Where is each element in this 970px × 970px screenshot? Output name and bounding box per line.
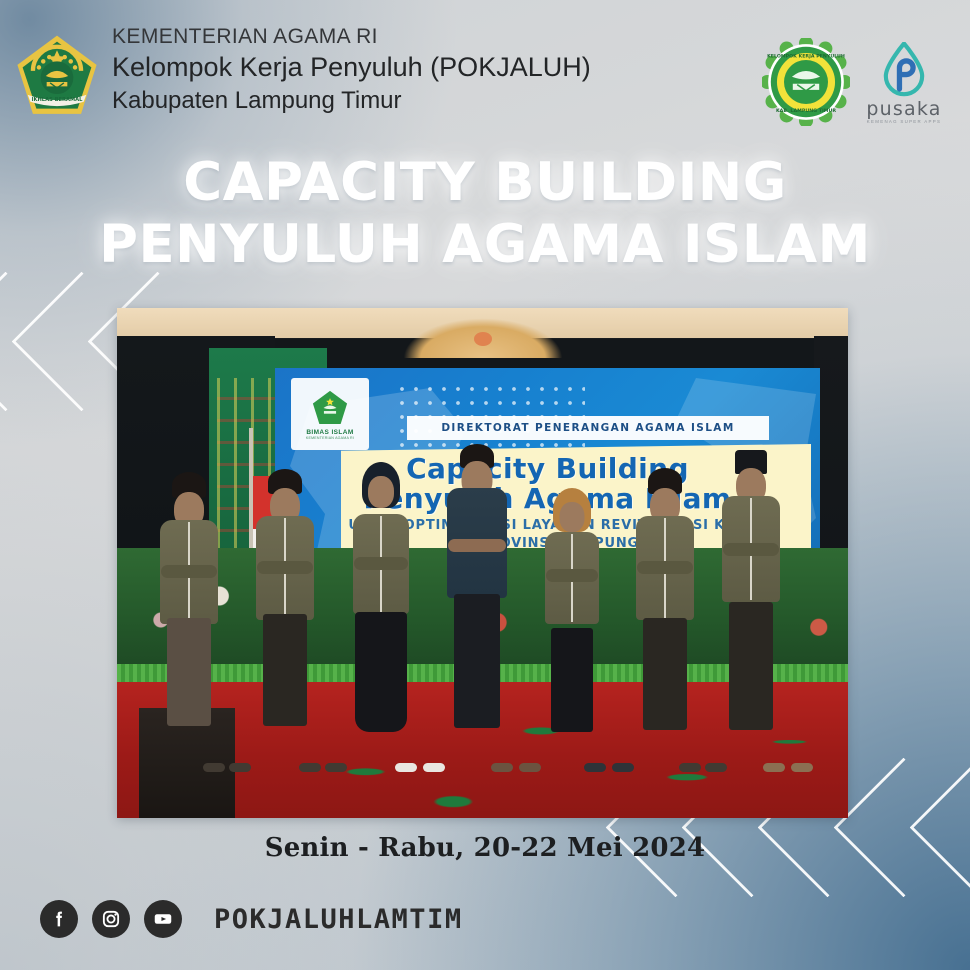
social-handle: POKJALUHLAMTIM bbox=[214, 904, 463, 935]
instagram-icon[interactable] bbox=[92, 900, 130, 938]
kemenag-logo: IKHLAS BERAMAL bbox=[14, 32, 100, 120]
chevron-left-icon bbox=[0, 271, 76, 411]
youtube-icon[interactable] bbox=[144, 900, 182, 938]
pusaka-wordmark: pusaka bbox=[858, 99, 950, 119]
pokjaluh-badge-logo: KELOMPOK KERJA PENYULUH KAB. LAMPUNG TIM… bbox=[762, 38, 850, 126]
organization-text-block: KEMENTERIAN AGAMA RI Kelompok Kerja Peny… bbox=[112, 24, 591, 117]
organization-name: Kelompok Kerja Penyuluh (POKJALUH) bbox=[112, 50, 591, 84]
screen-logo-text: BIMAS ISLAM bbox=[306, 429, 353, 436]
poster-title: CAPACITY BUILDING PENYULUH AGAMA ISLAM bbox=[0, 152, 970, 276]
poster-header: IKHLAS BERAMAL KEMENTERIAN AGAMA RI Kelo… bbox=[0, 24, 970, 134]
chevron-left-icon bbox=[833, 757, 970, 897]
chevron-left-icon bbox=[909, 757, 970, 897]
social-footer: POKJALUHLAMTIM bbox=[40, 896, 463, 942]
screen-ribbon-text: DIREKTORAT PENERANGAN AGAMA ISLAM bbox=[441, 422, 734, 434]
ministry-name: KEMENTERIAN AGAMA RI bbox=[112, 24, 591, 50]
pusaka-tagline: KEMENAG SUPER APPS bbox=[858, 119, 950, 125]
header-logo-group: KELOMPOK KERJA PENYULUH KAB. LAMPUNG TIM… bbox=[754, 28, 954, 132]
pusaka-logo: pusaka KEMENAG SUPER APPS bbox=[858, 42, 950, 126]
title-line-1: CAPACITY BUILDING bbox=[0, 152, 970, 214]
svg-text:KELOMPOK KERJA PENYULUH: KELOMPOK KERJA PENYULUH bbox=[767, 53, 845, 59]
screen-ribbon: DIREKTORAT PENERANGAN AGAMA ISLAM bbox=[407, 416, 769, 440]
screen-bimas-islam-logo: BIMAS ISLAM KEMENTERIAN AGAMA RI bbox=[291, 378, 369, 450]
svg-text:KAB. LAMPUNG TIMUR: KAB. LAMPUNG TIMUR bbox=[776, 108, 836, 114]
event-date-caption: Senin - Rabu, 20-22 Mei 2024 bbox=[0, 833, 970, 863]
facebook-icon[interactable] bbox=[40, 900, 78, 938]
svg-text:IKHLAS BERAMAL: IKHLAS BERAMAL bbox=[32, 97, 84, 103]
region-name: Kabupaten Lampung Timur bbox=[112, 84, 591, 117]
screen-logo-subtext: KEMENTERIAN AGAMA RI bbox=[306, 436, 354, 440]
title-line-2: PENYULUH AGAMA ISLAM bbox=[0, 214, 970, 276]
poster-canvas: IKHLAS BERAMAL KEMENTERIAN AGAMA RI Kelo… bbox=[0, 0, 970, 970]
pusaka-droplet-icon bbox=[881, 42, 927, 98]
event-photo: BIMAS ISLAM KEMENTERIAN AGAMA RI DIREKTO… bbox=[117, 308, 848, 818]
